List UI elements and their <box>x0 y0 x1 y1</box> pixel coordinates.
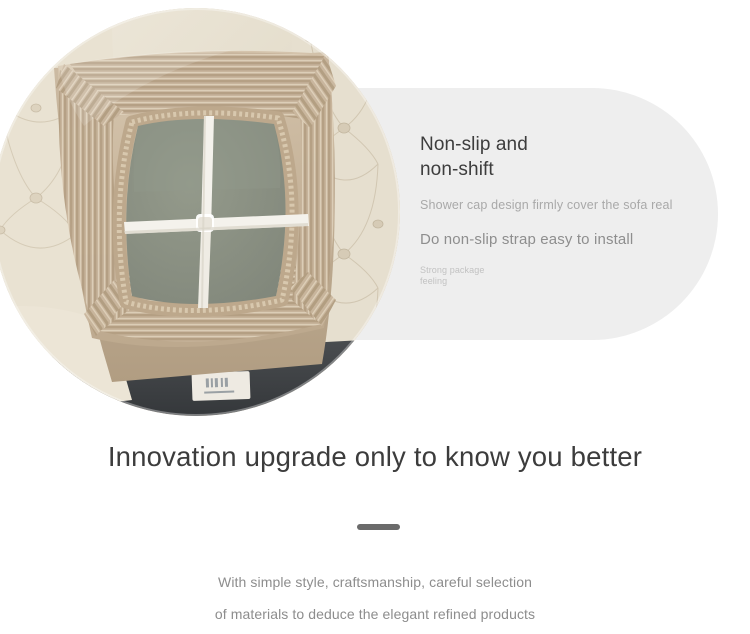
sofa-seat-cover-closeup-image <box>0 8 400 416</box>
feature-description-primary: Shower cap design firmly cover the sofa … <box>420 198 673 212</box>
section-divider <box>357 524 400 530</box>
feature-description-secondary: Do non-slip strap easy to install <box>420 231 633 248</box>
hero-section: Non-slip and non-shift Shower cap design… <box>0 0 750 430</box>
page-headline: Innovation upgrade only to know you bett… <box>0 441 750 473</box>
feature-title: Non-slip and non-shift <box>420 132 720 182</box>
feature-text-block: Non-slip and non-shift <box>420 132 720 182</box>
product-photo <box>0 8 400 416</box>
feature-note: Strong package feeling <box>420 265 484 287</box>
page-tagline: With simple style, craftsmanship, carefu… <box>0 566 750 630</box>
